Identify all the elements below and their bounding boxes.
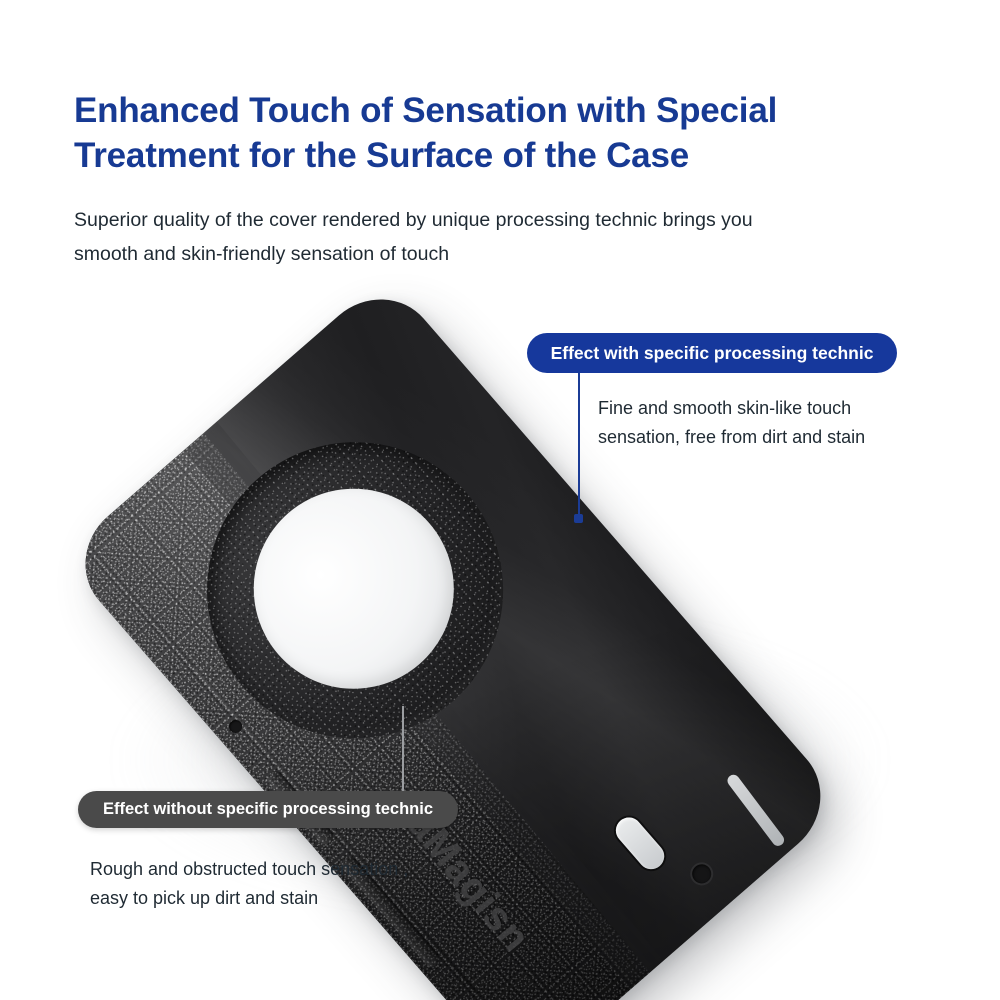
headline-line-2: Treatment for the Surface of the Case: [74, 133, 914, 178]
callout-caption-negative-line-1: Rough and obstructed touch sensation ,: [90, 859, 408, 879]
headline-line-1: Enhanced Touch of Sensation with Special: [74, 91, 777, 130]
callout-caption-negative-line-2: easy to pick up dirt and stain: [90, 884, 420, 913]
page-subtitle: Superior quality of the cover rendered b…: [74, 203, 874, 271]
callout-caption-positive-line-2: sensation, free from dirt and stain: [598, 423, 908, 452]
callout-badge-negative-label: Effect without specific processing techn…: [103, 800, 433, 819]
product-feature-slide: Enhanced Touch of Sensation with Special…: [0, 0, 1000, 1000]
callout-caption-positive-line-1: Fine and smooth skin-like touch: [598, 398, 851, 418]
subtitle-line-1: Superior quality of the cover rendered b…: [74, 209, 753, 231]
callout-badge-negative: Effect without specific processing techn…: [78, 791, 458, 828]
callout-badge-positive-label: Effect with specific processing technic: [551, 343, 874, 364]
page-title: Enhanced Touch of Sensation with Special…: [74, 88, 914, 178]
subtitle-line-2: smooth and skin-friendly sensation of to…: [74, 237, 874, 271]
callout-caption-positive: Fine and smooth skin-like touch sensatio…: [598, 394, 908, 452]
leader-endpoint-positive: [574, 514, 583, 523]
callout-badge-positive: Effect with specific processing technic: [527, 333, 897, 373]
leader-line-negative: [402, 706, 404, 792]
leader-line-positive: [578, 373, 580, 518]
callout-caption-negative: Rough and obstructed touch sensation , e…: [90, 855, 420, 913]
